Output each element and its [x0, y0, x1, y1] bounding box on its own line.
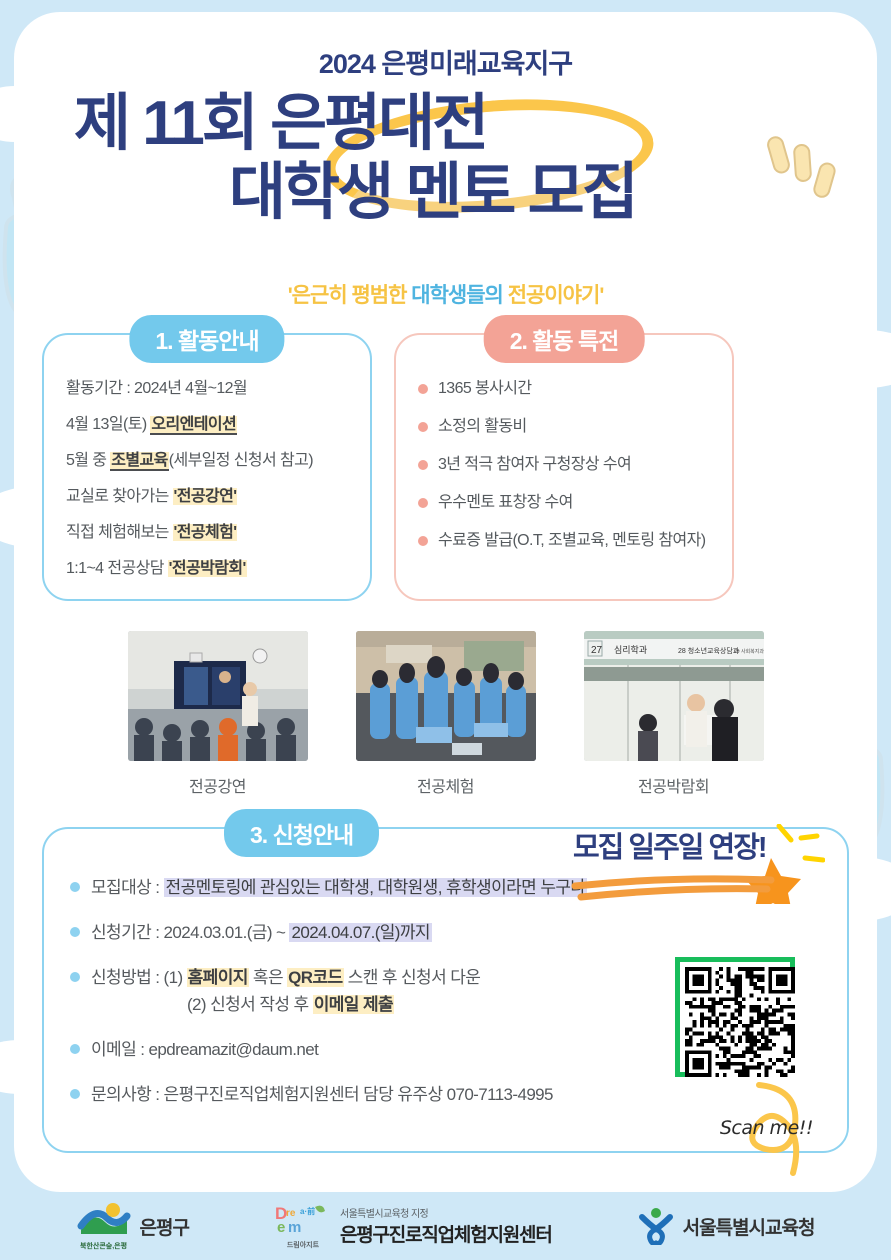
seoul-education-name: 서울특별시교육청 [683, 1213, 815, 1240]
poster-title-line-2: 대학생 멘토 모집 [14, 160, 877, 225]
bullet-dot-icon [418, 536, 428, 546]
recruit-target-text: 모집대상 : 전공멘토링에 관심있는 대학생, 대학원생, 휴학생이라면 누구나 [91, 877, 587, 900]
highlight-term: '전공박람회' [168, 560, 247, 577]
dream-azit-mark-icon: D re a·前 e m [275, 1203, 331, 1237]
email-text: 이메일 : epdreamazit@daum.net [91, 1039, 318, 1062]
svg-text:m: m [288, 1219, 301, 1236]
bullet-dot-icon [70, 882, 80, 892]
benefit-text: 1365 봉사시간 [438, 379, 532, 399]
dream-azit-center-name: 은평구진로직업체험지원센터 [340, 1220, 552, 1247]
application-period-text: 신청기간 : 2024.03.01.(금) ~ 2024.04.07.(일)까지 [91, 922, 432, 945]
benefit-text: 소정의 활동비 [438, 417, 527, 437]
bullet-dot-icon [418, 384, 428, 394]
poster-title-block: 제 11회 은평대전 대학생 멘토 모집 [14, 91, 877, 267]
dream-azit-kr: 드림아지트 [275, 1242, 331, 1250]
bullet-dot-icon [418, 460, 428, 470]
logo-seoul-education-office: 서울특별시교육청 [638, 1207, 815, 1245]
section-1-row: 1:1~4 전공상담 '전공박람회' [66, 559, 352, 579]
section-2-benefit-item: 1365 봉사시간 [418, 379, 714, 399]
highlight-term: '전공체험' [173, 524, 238, 541]
footer-logos: 북한산콘숲,은평 은평구 D re a·前 e m 드림아지트 서울특별시교육청… [0, 1192, 891, 1260]
section-2-benefit-item: 수료증 발급(O.T, 조별교육, 멘토링 참여자) [418, 531, 714, 551]
benefit-text: 우수멘토 표창장 수여 [438, 493, 573, 513]
highlight-term: '전공강연' [173, 488, 238, 505]
contact-row: 문의사항 : 은평구진로직업체험지원센터 담당 유주상 070-7113-499… [70, 1084, 825, 1107]
qr-code[interactable] [675, 957, 795, 1077]
bullet-dot-icon [418, 498, 428, 508]
svg-text:re: re [286, 1208, 296, 1219]
benefit-text: 수료증 발급(O.T, 조별교육, 멘토링 참여자) [438, 531, 705, 551]
eunpyeong-gu-name: 은평구 [140, 1213, 189, 1240]
application-period-row: 신청기간 : 2024.03.01.(금) ~ 2024.04.07.(일)까지 [70, 922, 825, 945]
photo-caption: 전공체험 [356, 773, 536, 797]
section-3-heading: 3. 신청안내 [224, 809, 379, 857]
eunpyeong-gu-slogan: 북한산콘숲,은평 [77, 1243, 131, 1251]
bullet-dot-icon [70, 972, 80, 982]
section-1-rows: 활동기간 : 2024년 4월~12월4월 13일(토) 오리엔테이션5월 중 … [66, 379, 352, 579]
logo-dream-azit: D re a·前 e m 드림아지트 서울특별시교육청 지정 은평구진로직업체험… [275, 1203, 552, 1250]
application-method-text: 신청방법 : (1) 홈페이지 혹은 QR코드 스캔 후 신청서 다운 (2) … [91, 967, 480, 1017]
section-1-row: 직접 체험해보는 '전공체험' [66, 523, 352, 543]
photo-item: 27 심리학과 28 청소년교육상담과 29 사회복지과 전공박람회 [584, 631, 764, 797]
section-1-card: 1. 활동안내 활동기간 : 2024년 4월~12월4월 13일(토) 오리엔… [42, 333, 372, 601]
section-2-benefit-item: 3년 적극 참여자 구청장상 수여 [418, 455, 714, 475]
photo-item: 전공강연 [128, 631, 308, 797]
photo-lecture [128, 631, 308, 761]
seoul-education-mark-icon [638, 1207, 674, 1245]
eunpyeong-gu-mark-icon [77, 1202, 131, 1238]
logo-eunpyeong-gu: 북한산콘숲,은평 은평구 [77, 1202, 189, 1251]
info-cards-row: 1. 활동안내 활동기간 : 2024년 4월~12월4월 13일(토) 오리엔… [14, 333, 877, 601]
tagline-part-3: 전공이야기' [508, 284, 604, 307]
highlight-term: 조별교육 [110, 452, 168, 471]
extension-banner-text: 모집 일주일 연장! [565, 824, 825, 866]
highlight-term: 오리엔테이션 [150, 416, 237, 435]
poster-title-line-1: 제 11회 은평대전 [14, 91, 877, 156]
photo-fair: 27 심리학과 28 청소년교육상담과 29 사회복지과 [584, 631, 764, 761]
section-1-row: 4월 13일(토) 오리엔테이션 [66, 415, 352, 435]
scan-me-label: Scan me!! [720, 1117, 813, 1139]
application-method-line2: (2) 신청서 작성 후 이메일 제출 [91, 994, 480, 1017]
svg-text:심리학과: 심리학과 [614, 645, 647, 655]
section-2-card: 2. 활동 특전 1365 봉사시간소정의 활동비3년 적극 참여자 구청장상 … [394, 333, 734, 601]
photo-gallery: 전공강연 [14, 631, 877, 797]
svg-text:28 청소년교육상담과: 28 청소년교육상담과 [678, 646, 740, 655]
extension-banner: 모집 일주일 연장! [565, 824, 825, 904]
section-1-row: 활동기간 : 2024년 4월~12월 [66, 379, 352, 399]
section-1-row: 교실로 찾아가는 '전공강연' [66, 487, 352, 507]
qr-code-image [685, 967, 795, 1077]
section-2-benefit-list: 1365 봉사시간소정의 활동비3년 적극 참여자 구청장상 수여우수멘토 표창… [418, 379, 714, 551]
dream-azit-designation: 서울특별시교육청 지정 [340, 1205, 552, 1220]
svg-text:27: 27 [591, 645, 603, 656]
tagline-part-2: 대학생들의 [411, 284, 507, 307]
bullet-dot-icon [70, 927, 80, 937]
photo-item: 전공체험 [356, 631, 536, 797]
section-2-heading: 2. 활동 특전 [484, 315, 645, 363]
photo-experience [356, 631, 536, 761]
poster-page: 2024 은평미래교육지구 제 11회 은평대전 대학생 멘토 모집 '은근히 … [14, 12, 877, 1192]
svg-text:e: e [277, 1219, 285, 1236]
bullet-dot-icon [70, 1044, 80, 1054]
poster-tagline: '은근히 평범한 대학생들의 전공이야기' [14, 279, 877, 309]
section-1-heading: 1. 활동안내 [129, 315, 284, 363]
svg-text:29 사회복지과: 29 사회복지과 [734, 648, 764, 655]
bullet-dot-icon [70, 1089, 80, 1099]
photo-caption: 전공박람회 [584, 773, 764, 797]
poster-eyebrow: 2024 은평미래교육지구 [14, 42, 877, 81]
bullet-dot-icon [418, 422, 428, 432]
benefit-text: 3년 적극 참여자 구청장상 수여 [438, 455, 631, 475]
contact-text: 문의사항 : 은평구진로직업체험지원센터 담당 유주상 070-7113-499… [91, 1084, 553, 1107]
section-2-benefit-item: 소정의 활동비 [418, 417, 714, 437]
section-2-benefit-item: 우수멘토 표창장 수여 [418, 493, 714, 513]
tagline-part-1: '은근히 평범한 [288, 284, 412, 307]
photo-caption: 전공강연 [128, 773, 308, 797]
section-1-row: 5월 중 조별교육(세부일정 신청서 참고) [66, 451, 352, 471]
svg-text:a·前: a·前 [300, 1206, 315, 1216]
